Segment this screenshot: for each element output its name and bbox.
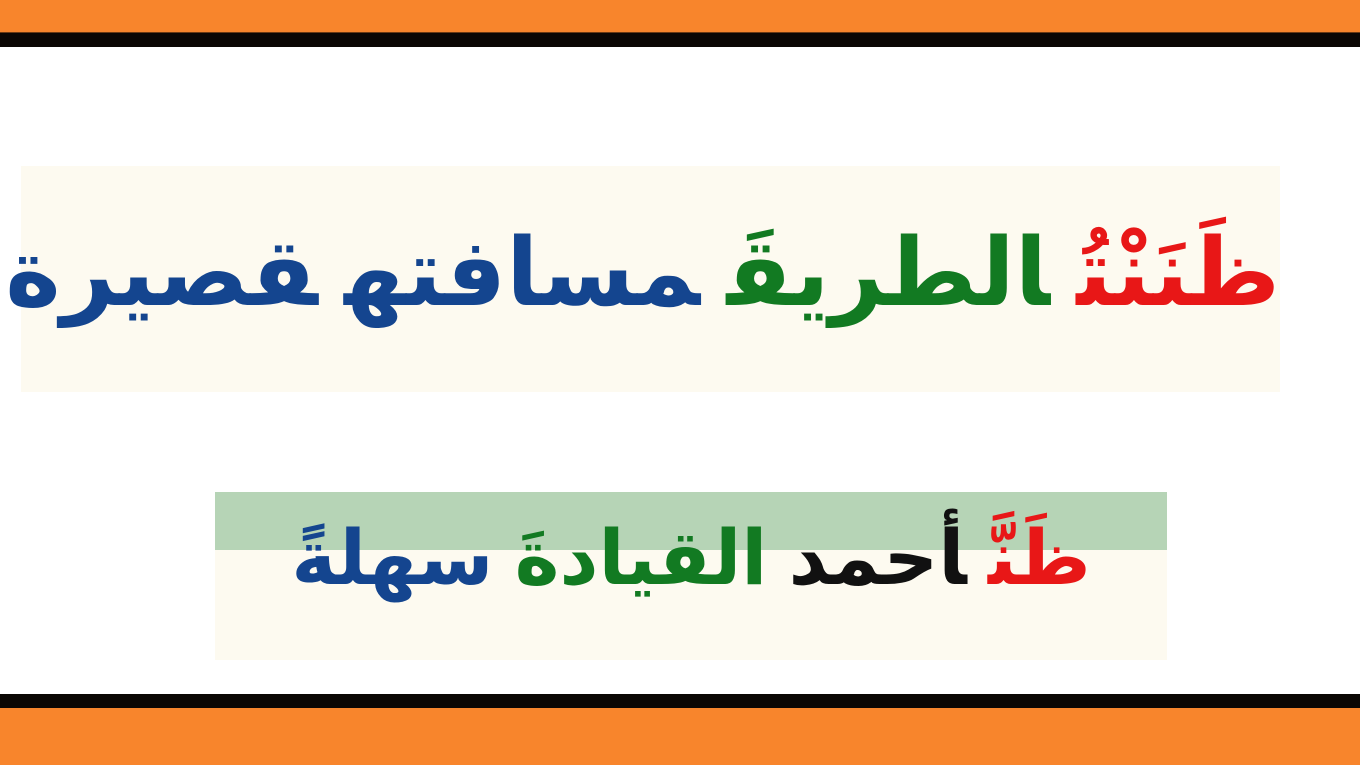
- sentence-1-word-3: مسافته: [344, 219, 700, 328]
- sentence-1: ظَنَنْتُالطريقَمسافتهقصيرة: [21, 227, 1280, 321]
- sentence-2: ظَنَّأحمدالقيادةَسهلةً: [215, 520, 1167, 596]
- bottom-black-band: [0, 694, 1360, 708]
- bottom-orange-band: [0, 708, 1360, 765]
- sentence-2-word-4: سهلةً: [291, 513, 493, 602]
- sentence-2-word-1: ظَنَّ: [988, 513, 1091, 602]
- sentence-1-word-2: الطريقَ: [726, 219, 1050, 328]
- top-orange-band: [0, 0, 1360, 33]
- sentence-1-word-1: ظَنَنْتُ: [1076, 219, 1280, 328]
- sentence-1-word-4: قصيرة: [5, 219, 318, 328]
- slide-content-area: ظَنَنْتُالطريقَمسافتهقصيرة ظَنَّأحمدالقي…: [0, 47, 1360, 694]
- slide-canvas: ظَنَنْتُالطريقَمسافتهقصيرة ظَنَّأحمدالقي…: [0, 0, 1360, 765]
- sentence-2-word-3: القيادةَ: [515, 513, 768, 602]
- top-black-band: [0, 33, 1360, 47]
- sentence-2-word-2: أحمد: [789, 513, 967, 602]
